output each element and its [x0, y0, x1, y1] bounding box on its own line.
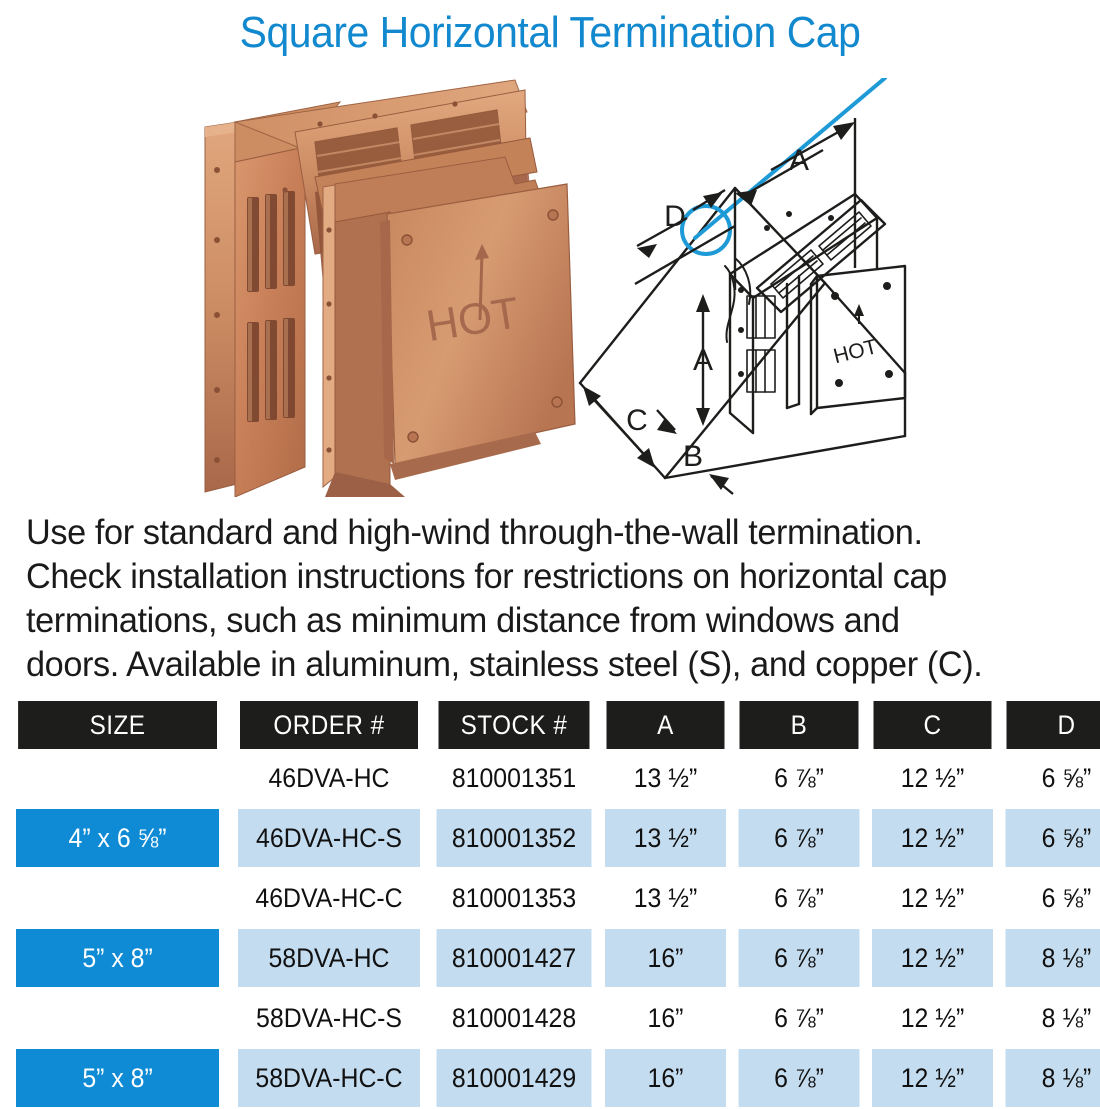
cell-a: 16”: [604, 928, 726, 988]
cell-order: 58DVA-HC: [237, 928, 421, 988]
column-header-order: ORDER #: [239, 701, 419, 749]
cell-order: 58DVA-HC-C: [237, 1048, 421, 1108]
description-line-1: Use for standard and high-wind through-t…: [26, 510, 1049, 554]
column-header-d: D: [1006, 701, 1100, 749]
description-line-3: terminations, such as minimum distance f…: [26, 598, 1049, 642]
cell-stock: 810001429: [436, 1048, 592, 1108]
cell-a: 16”: [604, 988, 726, 1048]
description-line-4: doors. Available in aluminum, stainless …: [26, 642, 1049, 686]
cell-b: 6 ⅞”: [737, 988, 860, 1048]
cell-stock: 810001351: [436, 749, 592, 808]
table-row: 5” x 8” 58DVA-HC 810001427 16” 6 ⅞” 12 ½…: [7, 928, 1100, 988]
cell-c: 12 ½”: [871, 928, 993, 988]
copper-cap-illustration: HOT: [175, 72, 595, 497]
table-row: 4” x 6 ⅝” 46DVA-HC-C 810001353 13 ½” 6 ⅞…: [7, 868, 1100, 928]
cell-stock: 810001353: [436, 868, 592, 928]
table-body: 4” x 6 ⅝” 46DVA-HC 810001351 13 ½” 6 ⅞” …: [7, 749, 1100, 1108]
diagram-hot-label: HOT: [831, 335, 880, 368]
cell-a: 16”: [604, 1048, 726, 1108]
table-row: 5” x 8” 58DVA-HC-S 810001428 16” 6 ⅞” 12…: [7, 988, 1100, 1048]
cell-size: 4” x 6 ⅝”: [16, 808, 220, 868]
cell-size: 4” x 6 ⅝”: [16, 749, 220, 808]
page-title: Square Horizontal Termination Cap: [39, 8, 1062, 58]
cell-stock: 810001427: [436, 928, 592, 988]
cell-b: 6 ⅞”: [737, 928, 860, 988]
cell-stock: 810001428: [436, 988, 592, 1048]
cell-b: 6 ⅞”: [737, 1048, 860, 1108]
dimension-label-b: B: [683, 440, 703, 473]
column-header-b: B: [739, 701, 860, 749]
cell-order: 46DVA-HC-C: [237, 868, 421, 928]
cell-order: 58DVA-HC-S: [237, 988, 421, 1048]
cell-stock: 810001352: [436, 808, 592, 868]
cell-c: 12 ½”: [871, 1048, 993, 1108]
product-photo: HOT: [175, 72, 595, 497]
description-line-2: Check installation instructions for rest…: [26, 554, 1049, 598]
specification-table: SIZE ORDER # STOCK # A B C D 4” x 6 ⅝” 4…: [7, 701, 1100, 1109]
dimension-diagram: HOT A D A: [575, 78, 1095, 498]
cell-c: 12 ½”: [871, 868, 993, 928]
cell-size: 4” x 6 ⅝”: [16, 868, 220, 928]
cell-c: 12 ½”: [871, 808, 993, 868]
cell-b: 6 ⅞”: [737, 808, 860, 868]
dimension-label-a-left: A: [693, 344, 713, 377]
cell-d: 6 ⅝”: [1004, 808, 1100, 868]
column-header-c: C: [873, 701, 993, 749]
cell-b: 6 ⅞”: [737, 749, 860, 808]
cell-c: 12 ½”: [871, 988, 993, 1048]
cell-size: 5” x 8”: [16, 988, 220, 1048]
cell-d: 8 ⅛”: [1004, 1048, 1100, 1108]
dimension-label-a-top: A: [789, 144, 809, 177]
cell-c: 12 ½”: [871, 749, 993, 808]
cell-b: 6 ⅞”: [737, 868, 860, 928]
cell-d: 6 ⅝”: [1004, 749, 1100, 808]
table-row: 4” x 6 ⅝” 46DVA-HC-S 810001352 13 ½” 6 ⅞…: [7, 808, 1100, 868]
cell-a: 13 ½”: [604, 808, 726, 868]
column-header-a: A: [606, 701, 726, 749]
cell-d: 8 ⅛”: [1004, 988, 1100, 1048]
table-row: 5” x 8” 58DVA-HC-C 810001429 16” 6 ⅞” 12…: [7, 1048, 1100, 1108]
column-header-stock: STOCK #: [438, 701, 591, 749]
table-row: 4” x 6 ⅝” 46DVA-HC 810001351 13 ½” 6 ⅞” …: [7, 749, 1100, 808]
cell-order: 46DVA-HC: [237, 749, 421, 808]
cell-d: 6 ⅝”: [1004, 868, 1100, 928]
cell-a: 13 ½”: [604, 868, 726, 928]
cell-size: 5” x 8”: [16, 1048, 220, 1108]
cell-order: 46DVA-HC-S: [237, 808, 421, 868]
table-header-row: SIZE ORDER # STOCK # A B C D: [7, 701, 1100, 749]
cell-size: 5” x 8”: [16, 928, 220, 988]
cell-a: 13 ½”: [604, 749, 726, 808]
description-paragraph: Use for standard and high-wind through-t…: [26, 510, 1049, 686]
cell-d: 8 ⅛”: [1004, 928, 1100, 988]
dimension-label-c: C: [626, 404, 648, 437]
dimension-diagram-svg: HOT A D A: [575, 78, 1095, 498]
column-header-size: SIZE: [18, 701, 218, 749]
dimension-label-d: D: [664, 200, 686, 233]
table-header: SIZE ORDER # STOCK # A B C D: [7, 701, 1100, 749]
